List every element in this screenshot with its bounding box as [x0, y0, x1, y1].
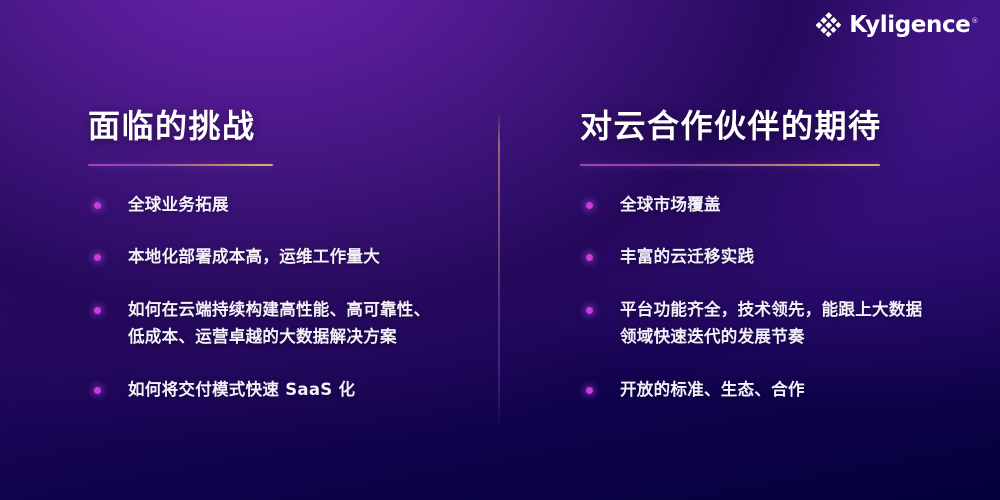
bullet-line: 平台功能齐全，技术领先，能跟上大数据	[620, 297, 1000, 324]
list-item: 全球业务拓展	[88, 192, 508, 219]
list-item: 平台功能齐全，技术领先，能跟上大数据 领域快速迭代的发展节奏	[580, 297, 1000, 350]
content-columns: 面临的挑战 全球业务拓展 本地化部署成本高，运维工作量大 如何在云端持续构建高性…	[0, 108, 1000, 403]
bullet-line: 全球市场覆盖	[620, 192, 1000, 219]
bullet-line: 本地化部署成本高，运维工作量大	[128, 244, 508, 271]
registered-trademark-symbol: ®	[971, 17, 978, 25]
column-expectations-title: 对云合作伙伴的期待	[580, 108, 1000, 146]
column-challenges: 面临的挑战 全球业务拓展 本地化部署成本高，运维工作量大 如何在云端持续构建高性…	[88, 108, 508, 403]
column-challenges-bullet-list: 全球业务拓展 本地化部署成本高，运维工作量大 如何在云端持续构建高性能、高可靠性…	[88, 192, 508, 404]
list-item: 本地化部署成本高，运维工作量大	[88, 244, 508, 271]
list-item: 如何在云端持续构建高性能、高可靠性、 低成本、运营卓越的大数据解决方案	[88, 297, 508, 350]
list-item: 如何将交付模式快速 SaaS 化	[88, 377, 508, 404]
bullet-line: 开放的标准、生态、合作	[620, 377, 1000, 404]
column-expectations-title-rule	[580, 164, 880, 166]
kyligence-diamond-logo-icon	[816, 12, 842, 38]
brand-name-wrapper: Kyligence®	[849, 14, 978, 37]
bullet-dot-icon	[586, 387, 593, 394]
list-item: 丰富的云迁移实践	[580, 244, 1000, 271]
column-expectations: 对云合作伙伴的期待 全球市场覆盖 丰富的云迁移实践 平台功能齐全，技术领先，能跟…	[580, 108, 1000, 403]
bullet-dot-icon	[94, 202, 101, 209]
bullet-line: 低成本、运营卓越的大数据解决方案	[128, 324, 508, 351]
list-item: 全球市场覆盖	[580, 192, 1000, 219]
bullet-line: 全球业务拓展	[128, 192, 508, 219]
list-item: 开放的标准、生态、合作	[580, 377, 1000, 404]
bullet-line: 如何将交付模式快速 SaaS 化	[128, 377, 508, 404]
brand-logo: Kyligence®	[816, 10, 978, 40]
column-expectations-bullet-list: 全球市场覆盖 丰富的云迁移实践 平台功能齐全，技术领先，能跟上大数据 领域快速迭…	[580, 192, 1000, 404]
column-challenges-title: 面临的挑战	[88, 108, 508, 146]
bullet-line: 丰富的云迁移实践	[620, 244, 1000, 271]
bullet-dot-icon	[94, 387, 101, 394]
column-challenges-title-rule	[88, 164, 273, 166]
bullet-dot-icon	[586, 307, 593, 314]
bullet-dot-icon	[94, 254, 101, 261]
bullet-dot-icon	[586, 254, 593, 261]
bullet-line: 如何在云端持续构建高性能、高可靠性、	[128, 297, 508, 324]
presentation-slide: Kyligence® 面临的挑战 全球业务拓展 本地化部署成本高，运维工作量大 …	[0, 0, 1000, 500]
bullet-dot-icon	[94, 307, 101, 314]
bullet-line: 领域快速迭代的发展节奏	[620, 324, 1000, 351]
brand-name: Kyligence	[849, 12, 970, 38]
bullet-dot-icon	[586, 202, 593, 209]
